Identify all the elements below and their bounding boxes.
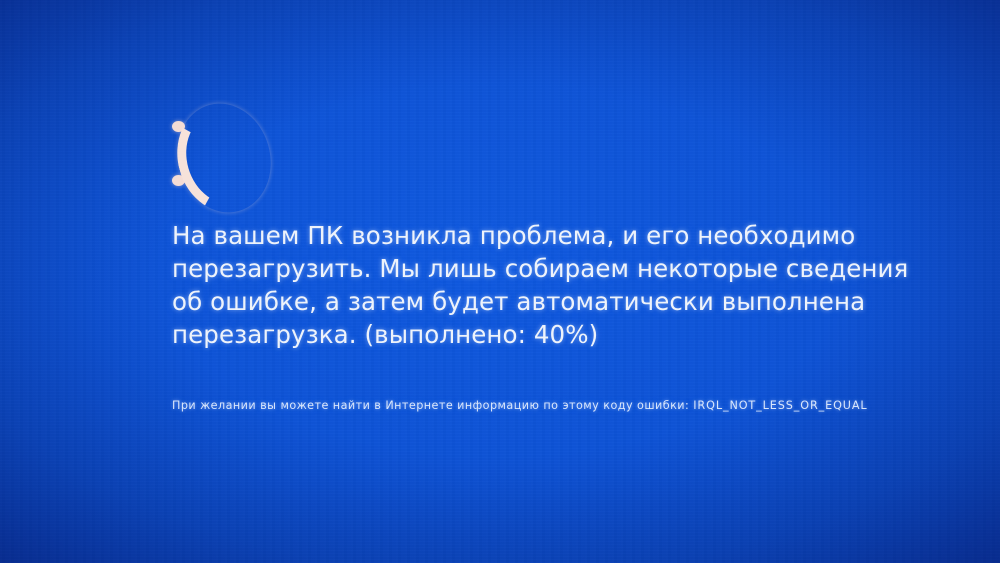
bsod-footnote: При желании вы можете найти в Интернете … — [172, 398, 952, 413]
sad-face-mouth — [165, 92, 284, 223]
footnote-prefix-text: При желании вы можете найти в Интернете … — [172, 399, 693, 412]
bsod-main-message: На вашем ПК возникла проблема, и его нео… — [172, 219, 912, 351]
bsod-error-code: IRQL_NOT_LESS_OR_EQUAL — [693, 399, 867, 412]
bsod-content: На вашем ПК возникла проблема, и его нео… — [170, 0, 960, 563]
bsod-screen: На вашем ПК возникла проблема, и его нео… — [0, 0, 1000, 563]
sad-face-icon — [170, 96, 250, 204]
